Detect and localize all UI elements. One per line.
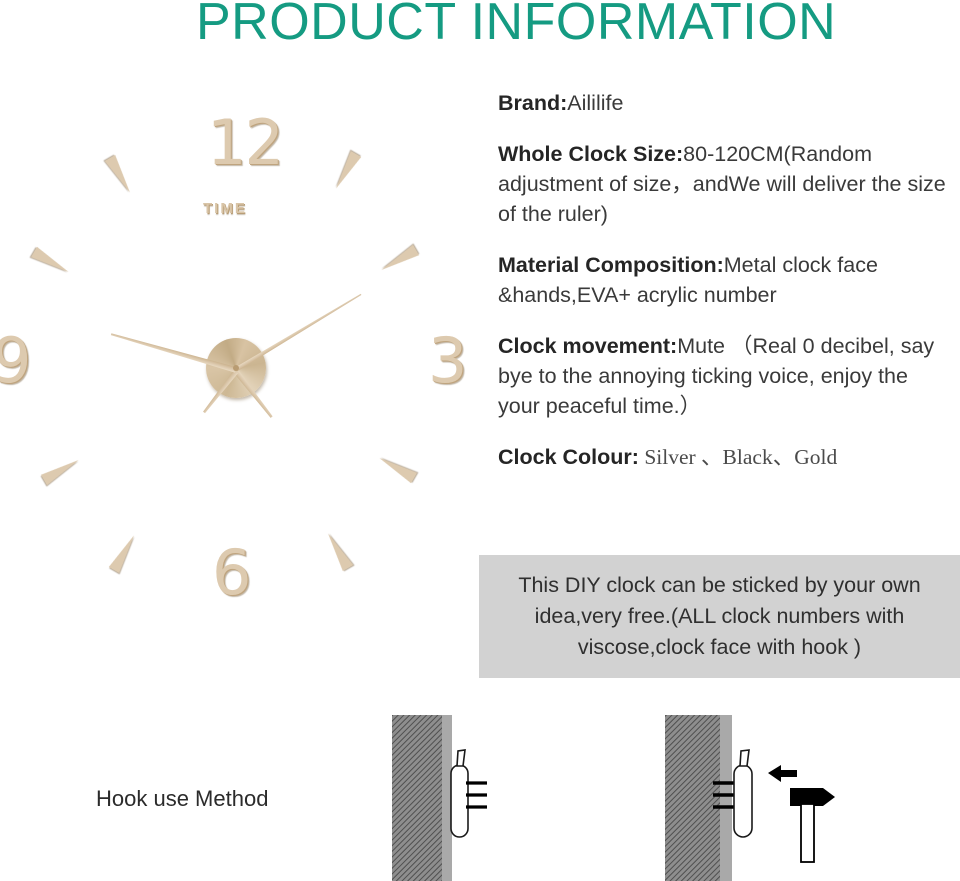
spec-clock-colour-label: Clock Colour: bbox=[498, 445, 639, 469]
hook-use-method-label: Hook use Method bbox=[96, 786, 268, 812]
spec-clock-colour: Clock Colour: Silver 、Black、Gold bbox=[498, 442, 950, 472]
hook-hammer-diagram bbox=[655, 703, 895, 881]
product-spec-list: Brand:Aililife Whole Clock Size:80-120CM… bbox=[498, 88, 950, 472]
diy-callout-text: This DIY clock can be sticked by your ow… bbox=[479, 570, 960, 663]
hour-marker-2 bbox=[378, 245, 419, 275]
spec-brand-label: Brand: bbox=[498, 91, 567, 115]
clock-hub-pin bbox=[233, 365, 239, 371]
hour-marker-5 bbox=[323, 530, 353, 571]
hook-tab bbox=[740, 750, 749, 766]
hook-on-wall-diagram bbox=[370, 703, 570, 881]
hour-marker-1 bbox=[331, 151, 361, 192]
spec-clock-movement: Clock movement:Mute （Real 0 decibel, say… bbox=[498, 331, 950, 421]
direction-arrow-icon bbox=[768, 765, 797, 782]
spec-whole-clock-size-label: Whole Clock Size: bbox=[498, 142, 683, 166]
hammer-handle-icon bbox=[801, 804, 814, 862]
diy-callout-box: This DIY clock can be sticked by your ow… bbox=[479, 555, 960, 678]
clock-minute-hand bbox=[234, 291, 363, 372]
clock-brand-mark: TIME bbox=[203, 200, 247, 217]
hour-marker-8 bbox=[41, 455, 82, 485]
spec-clock-movement-label: Clock movement: bbox=[498, 334, 677, 358]
clock-numeral-6: 6 bbox=[212, 542, 251, 604]
spec-brand: Brand:Aililife bbox=[498, 88, 950, 118]
clock-numeral-3: 3 bbox=[428, 330, 467, 392]
spec-whole-clock-size: Whole Clock Size:80-120CM(Random adjustm… bbox=[498, 139, 950, 229]
clock-illustration: 12 TIME 3 6 9 bbox=[0, 90, 480, 670]
spec-material-composition: Material Composition:Metal clock face &h… bbox=[498, 250, 950, 310]
wall-hatched-body bbox=[665, 715, 720, 881]
hour-marker-7 bbox=[109, 532, 139, 573]
wall-surface-strip bbox=[720, 715, 732, 881]
clock-numeral-9: 9 bbox=[0, 330, 31, 392]
spec-brand-value: Aililife bbox=[567, 91, 623, 115]
hour-marker-4 bbox=[376, 453, 417, 483]
wall-hatched-body bbox=[392, 715, 442, 881]
hook-body bbox=[451, 765, 468, 837]
clock-numeral-12: 12 bbox=[207, 112, 282, 174]
hook-body bbox=[734, 765, 752, 837]
page-title: PRODUCT INFORMATION bbox=[196, 0, 836, 52]
hour-marker-11 bbox=[105, 155, 135, 196]
spec-clock-colour-value: Silver 、Black、Gold bbox=[639, 445, 837, 469]
hook-tab bbox=[457, 750, 465, 766]
spec-material-composition-label: Material Composition: bbox=[498, 253, 724, 277]
hour-marker-10 bbox=[31, 247, 72, 277]
